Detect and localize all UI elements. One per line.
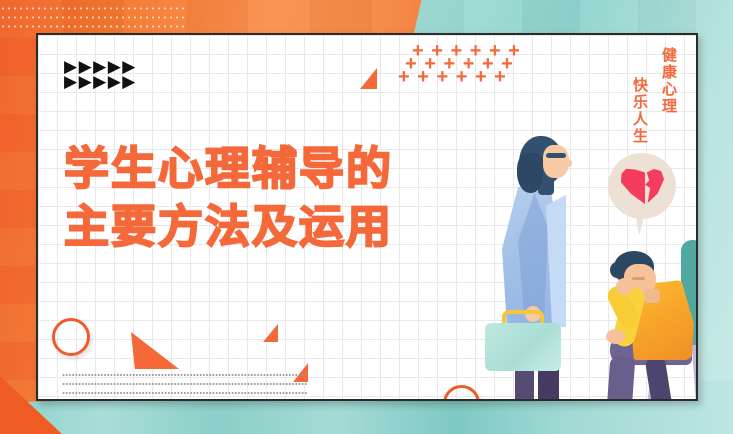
poster-canvas: ▶▶▶▶▶ ▶▶▶▶▶ + + + + + + + + + + + + + + … — [0, 0, 733, 434]
student-neck — [644, 289, 660, 303]
counselor-hair-back — [517, 153, 543, 193]
broken-heart-icon — [621, 168, 663, 206]
student-hair-tuft — [610, 262, 624, 278]
student-shin-front — [606, 356, 636, 401]
student-resting-hand — [606, 329, 625, 344]
broken-heart-left-half — [621, 168, 645, 204]
counselor-nose — [565, 159, 572, 167]
student-hand-on-head — [616, 278, 633, 295]
dotted-texture-icon — [0, 4, 186, 30]
poster-card: ▶▶▶▶▶ ▶▶▶▶▶ + + + + + + + + + + + + + + … — [36, 33, 698, 401]
student-eyebrow — [632, 277, 645, 280]
illustration — [38, 35, 696, 399]
broken-heart-right-half — [643, 169, 664, 203]
counselor-glasses-icon — [546, 153, 566, 158]
medical-bag — [485, 323, 561, 371]
chair-leg-back — [692, 351, 698, 401]
